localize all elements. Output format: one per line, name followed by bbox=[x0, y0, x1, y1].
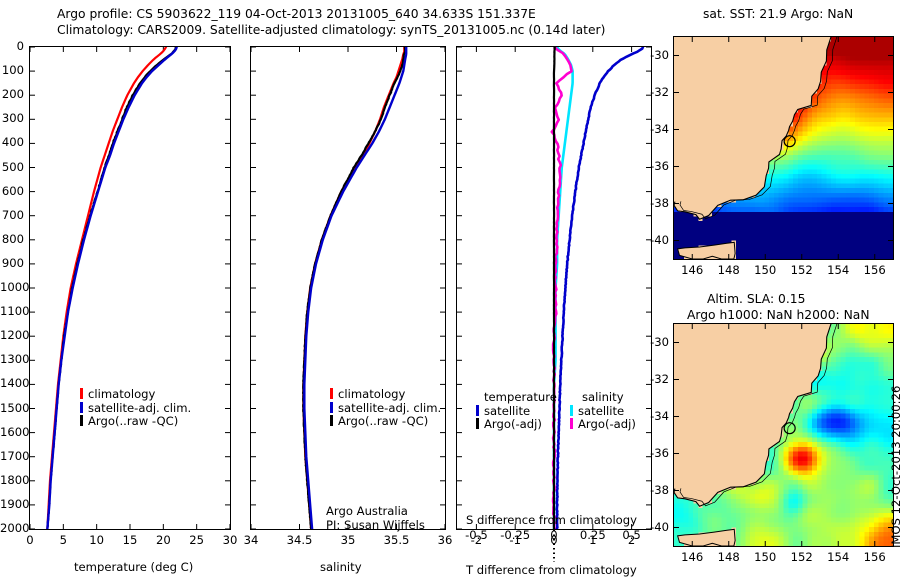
tick-label: 156 bbox=[859, 263, 891, 277]
legend-item-satellite-s: satellite-adj. clim. bbox=[330, 402, 441, 416]
tick-label: -34 bbox=[641, 122, 669, 136]
tick-label: 35.5 bbox=[379, 533, 415, 547]
tick-label: -2 bbox=[460, 533, 492, 547]
sst-map[interactable] bbox=[673, 36, 894, 260]
tick-label: 1700 bbox=[0, 449, 24, 463]
tick-label: 34 bbox=[233, 533, 269, 547]
tick-label: 156 bbox=[859, 550, 891, 564]
legend-label-s-satellite: satellite bbox=[578, 404, 624, 418]
tick-label: 150 bbox=[749, 550, 781, 564]
tick-label: 154 bbox=[822, 550, 854, 564]
salinity-axis-label: salinity bbox=[320, 560, 362, 574]
tick-label: -30 bbox=[641, 335, 669, 349]
tick-label: 300 bbox=[0, 111, 24, 125]
tick-label: 150 bbox=[749, 263, 781, 277]
legend-item-s-satellite: satellite bbox=[570, 405, 636, 419]
credit-line1: Argo Australia bbox=[326, 505, 425, 519]
tick-label: 152 bbox=[786, 263, 818, 277]
legend-item-argo-s: Argo(..raw -QC) bbox=[330, 415, 441, 429]
tick-label: 500 bbox=[0, 160, 24, 174]
sst-map-canvas bbox=[674, 37, 893, 259]
tick-label: 200 bbox=[0, 87, 24, 101]
tick-label: 2 bbox=[616, 533, 648, 547]
temperature-profile-panel[interactable] bbox=[29, 46, 231, 530]
legend-item-s-argo: Argo(-adj) bbox=[570, 418, 636, 432]
tick-label: 1200 bbox=[0, 328, 24, 342]
tick-label: 1600 bbox=[0, 425, 24, 439]
imos-timestamp: IMOS 12-Oct-2013 20:00:26 bbox=[889, 386, 900, 548]
tick-label: 0 bbox=[0, 39, 24, 53]
zero-reference-line bbox=[553, 530, 554, 562]
tick-label: 400 bbox=[0, 135, 24, 149]
tick-label: 20 bbox=[149, 533, 177, 547]
tick-label: 146 bbox=[676, 550, 708, 564]
tick-label: 1400 bbox=[0, 376, 24, 390]
legend-header-temperature: temperature bbox=[476, 391, 557, 405]
tick-label: 600 bbox=[0, 184, 24, 198]
legend-item-argo: Argo(..raw -QC) bbox=[80, 415, 191, 429]
salinity-plot-area bbox=[251, 47, 445, 529]
legend-swatch-s-satellite bbox=[570, 405, 573, 416]
tick-label: -40 bbox=[641, 520, 669, 534]
legend-swatch-t-satellite bbox=[476, 405, 479, 416]
salinity-profile-panel[interactable] bbox=[250, 46, 446, 530]
legend-label-climatology-s: climatology bbox=[338, 387, 405, 401]
tick-label: -34 bbox=[641, 409, 669, 423]
sla-map-canvas bbox=[674, 324, 893, 546]
tick-label: 154 bbox=[822, 263, 854, 277]
sst-map-title: sat. SST: 21.9 Argo: NaN bbox=[703, 7, 853, 21]
credit-line2: PI: Susan Wijffels bbox=[326, 519, 425, 533]
legend-label-s-argo: Argo(-adj) bbox=[578, 417, 636, 431]
legend-swatch-s-argo bbox=[570, 418, 573, 429]
tick-label: 152 bbox=[786, 550, 818, 564]
legend-item-climatology: climatology bbox=[80, 388, 191, 402]
legend-label-argo: Argo(..raw -QC) bbox=[88, 414, 178, 428]
sla-map[interactable] bbox=[673, 323, 894, 547]
tick-label: 1 bbox=[577, 533, 609, 547]
tick-label: 800 bbox=[0, 232, 24, 246]
tick-label: -38 bbox=[641, 196, 669, 210]
legend-item-t-satellite: satellite bbox=[476, 405, 557, 419]
tick-label: -32 bbox=[641, 372, 669, 386]
legend-item-satellite: satellite-adj. clim. bbox=[80, 402, 191, 416]
tick-label: -1 bbox=[499, 533, 531, 547]
tick-label: 148 bbox=[713, 550, 745, 564]
legend-swatch-satellite bbox=[80, 402, 83, 413]
figure-title-line2: Climatology: CARS2009. Satellite-adjuste… bbox=[57, 23, 605, 37]
tick-label: 25 bbox=[183, 533, 211, 547]
tick-label: 35 bbox=[330, 533, 366, 547]
tick-label: -32 bbox=[641, 85, 669, 99]
sla-map-title-line2: Argo h1000: NaN h2000: NaN bbox=[687, 308, 870, 322]
tick-label: 900 bbox=[0, 256, 24, 270]
salinity-legend: climatology satellite-adj. clim. Argo(..… bbox=[330, 388, 441, 429]
legend-label-satellite: satellite-adj. clim. bbox=[88, 401, 191, 415]
legend-swatch-argo bbox=[80, 415, 83, 426]
tick-label: -36 bbox=[641, 446, 669, 460]
difference-profile-panel[interactable] bbox=[456, 46, 652, 530]
tick-label: 1100 bbox=[0, 304, 24, 318]
tick-label: 34.5 bbox=[282, 533, 318, 547]
tick-label: 146 bbox=[676, 263, 708, 277]
difference-legend-col2: salinity satellite Argo(-adj) bbox=[570, 391, 636, 432]
difference-temperature-axis-label: T difference from climatology bbox=[466, 563, 637, 577]
legend-swatch-t-argo bbox=[476, 418, 479, 429]
tick-label: 148 bbox=[713, 263, 745, 277]
tick-label: -30 bbox=[641, 48, 669, 62]
tick-label: 1000 bbox=[0, 280, 24, 294]
tick-label: 5 bbox=[49, 533, 77, 547]
legend-label-satellite-s: satellite-adj. clim. bbox=[338, 401, 441, 415]
legend-item-climatology-s: climatology bbox=[330, 388, 441, 402]
tick-label: 0 bbox=[16, 533, 44, 547]
tick-label: 100 bbox=[0, 63, 24, 77]
legend-swatch-climatology bbox=[80, 388, 83, 399]
legend-header-salinity: salinity bbox=[570, 391, 636, 405]
temperature-axis-label: temperature (deg C) bbox=[74, 560, 193, 574]
legend-item-t-argo: Argo(-adj) bbox=[476, 418, 557, 432]
tick-label: -36 bbox=[641, 159, 669, 173]
legend-swatch-satellite-s bbox=[330, 402, 333, 413]
figure-root: Argo profile: CS 5903622_119 04-Oct-2013… bbox=[0, 0, 900, 580]
difference-legend-col1: temperature satellite Argo(-adj) bbox=[476, 391, 557, 432]
legend-label-t-argo: Argo(-adj) bbox=[484, 417, 542, 431]
tick-label: 1300 bbox=[0, 352, 24, 366]
tick-label: 700 bbox=[0, 208, 24, 222]
tick-label: 15 bbox=[116, 533, 144, 547]
sla-map-title-line1: Altim. SLA: 0.15 bbox=[707, 292, 805, 306]
temperature-legend: climatology satellite-adj. clim. Argo(..… bbox=[80, 388, 191, 429]
tick-label: 1900 bbox=[0, 497, 24, 511]
legend-label-climatology: climatology bbox=[88, 387, 155, 401]
credit-block: Argo Australia PI: Susan Wijffels bbox=[326, 505, 425, 532]
tick-label: 1800 bbox=[0, 473, 24, 487]
tick-label: -38 bbox=[641, 483, 669, 497]
legend-swatch-argo-s bbox=[330, 415, 333, 426]
legend-label-argo-s: Argo(..raw -QC) bbox=[338, 414, 428, 428]
temperature-plot-area bbox=[30, 47, 230, 529]
difference-plot-area bbox=[457, 47, 651, 529]
tick-label: -40 bbox=[641, 233, 669, 247]
legend-swatch-climatology-s bbox=[330, 388, 333, 399]
tick-label: 1500 bbox=[0, 401, 24, 415]
figure-title-line1: Argo profile: CS 5903622_119 04-Oct-2013… bbox=[57, 7, 536, 21]
difference-salinity-axis-label: S difference from climatology bbox=[466, 513, 637, 527]
tick-label: 10 bbox=[83, 533, 111, 547]
legend-label-t-satellite: satellite bbox=[484, 404, 530, 418]
